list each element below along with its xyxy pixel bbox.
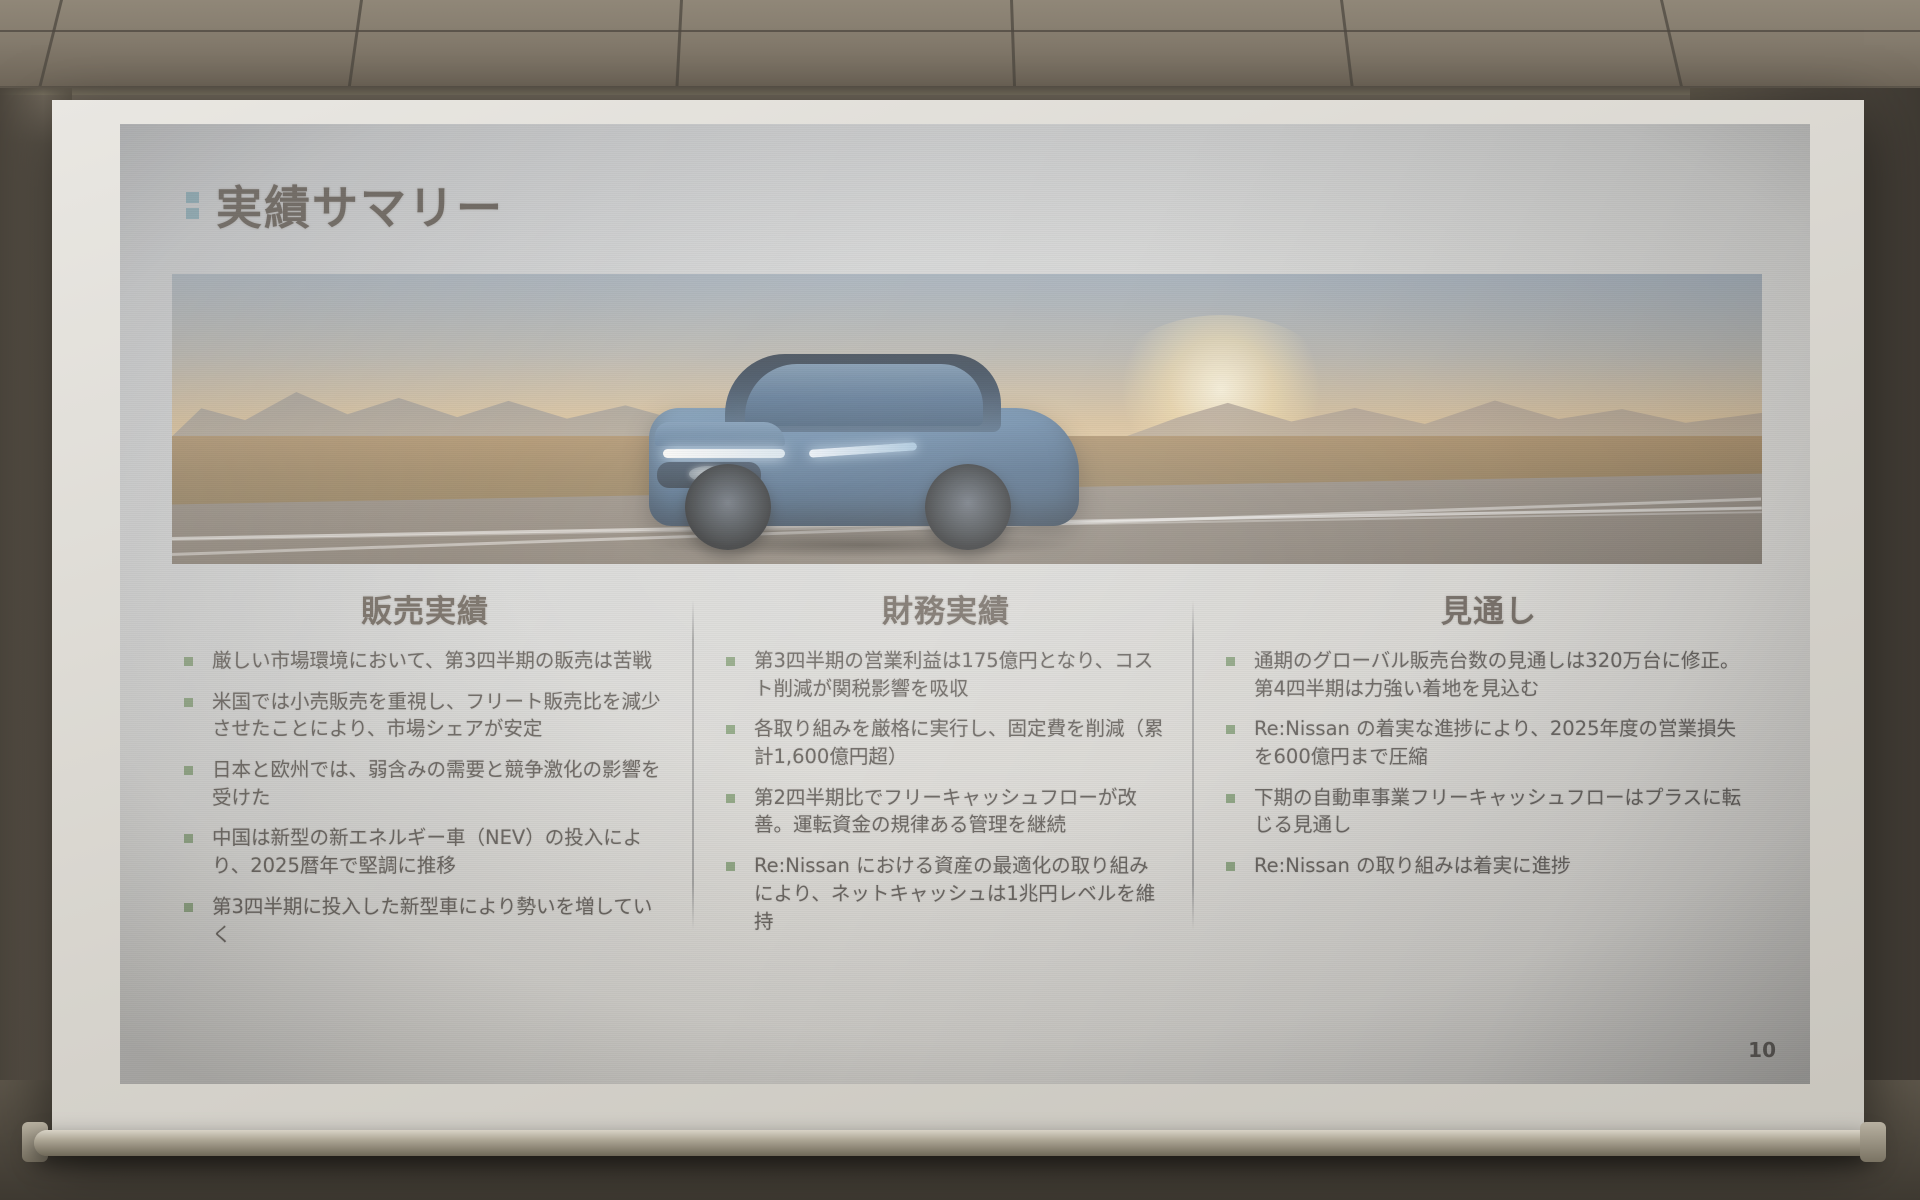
summary-columns: 販売実績 厳しい市場環境において、第3四半期の販売は苦戦 米国では小売販売を重視… — [172, 586, 1764, 1006]
list-item: 第3四半期に投入した新型車により勢いを増していく — [184, 893, 666, 948]
list-item-text: 第2四半期比でフリーキャッシュフローが改善。運転資金の規律ある管理を継続 — [754, 784, 1166, 839]
list-item-text: Re:Nissan の取り組みは着実に進捗 — [1254, 852, 1571, 880]
vehicle-illustration — [649, 335, 1079, 550]
bullet-list: 厳しい市場環境において、第3四半期の販売は苦戦 米国では小売販売を重視し、フリー… — [184, 647, 666, 948]
bullet-square-icon — [184, 893, 212, 948]
screen-roller-end-right — [1860, 1122, 1886, 1162]
bullet-square-icon — [726, 715, 754, 770]
bullet-square-icon — [184, 647, 212, 675]
list-item-text: Re:Nissan における資産の最適化の取り組みにより、ネットキャッシュは1兆… — [754, 852, 1166, 935]
list-item-text: 中国は新型の新エネルギー車（NEV）の投入により、2025暦年で堅調に推移 — [212, 824, 666, 879]
list-item: 各取り組みを厳格に実行し、固定費を削減（累計1,600億円超） — [726, 715, 1166, 770]
hero-image — [172, 274, 1762, 564]
bullet-list: 第3四半期の営業利益は175億円となり、コスト削減が関税影響を吸収 各取り組みを… — [726, 647, 1166, 935]
bullet-square-icon — [1226, 715, 1254, 770]
list-item: Re:Nissan の着実な進捗により、2025年度の営業損失を600億円まで圧… — [1226, 715, 1752, 770]
list-item-text: 通期のグローバル販売台数の見通しは320万台に修正。第4四半期は力強い着地を見込… — [1254, 647, 1752, 702]
screen-roller-bar — [34, 1130, 1874, 1156]
list-item: 厳しい市場環境において、第3四半期の販売は苦戦 — [184, 647, 666, 675]
list-item-text: 米国では小売販売を重視し、フリート販売比を減少させたことにより、市場シェアが安定 — [212, 688, 666, 743]
bullet-square-icon — [1226, 784, 1254, 839]
bullet-square-icon — [184, 688, 212, 743]
list-item: Re:Nissan の取り組みは着実に進捗 — [1226, 852, 1752, 880]
list-item: 下期の自動車事業フリーキャッシュフローはプラスに転じる見通し — [1226, 784, 1752, 839]
title-marker-icon — [186, 192, 199, 219]
list-item: 通期のグローバル販売台数の見通しは320万台に修正。第4四半期は力強い着地を見込… — [1226, 647, 1752, 702]
list-item-text: 各取り組みを厳格に実行し、固定費を削減（累計1,600億円超） — [754, 715, 1166, 770]
list-item: 中国は新型の新エネルギー車（NEV）の投入により、2025暦年で堅調に推移 — [184, 824, 666, 879]
list-item-text: 厳しい市場環境において、第3四半期の販売は苦戦 — [212, 647, 652, 675]
column-sales-results: 販売実績 厳しい市場環境において、第3四半期の販売は苦戦 米国では小売販売を重視… — [172, 586, 692, 1006]
ceiling-wall-seam — [0, 86, 1920, 95]
page-title: 実績サマリー — [216, 172, 504, 238]
ceiling-tiles — [0, 0, 1920, 92]
projection-screen: 実績サマリー — [52, 100, 1864, 1140]
column-heading: 財務実績 — [726, 586, 1166, 631]
bullet-square-icon — [1226, 647, 1254, 702]
list-item: 第2四半期比でフリーキャッシュフローが改善。運転資金の規律ある管理を継続 — [726, 784, 1166, 839]
page-number: 10 — [1748, 1038, 1776, 1062]
meeting-room-background: 実績サマリー — [0, 0, 1920, 1200]
list-item: Re:Nissan における資産の最適化の取り組みにより、ネットキャッシュは1兆… — [726, 852, 1166, 935]
column-divider — [1192, 600, 1194, 930]
bullet-square-icon — [184, 756, 212, 811]
column-outlook: 見通し 通期のグローバル販売台数の見通しは320万台に修正。第4四半期は力強い着… — [1192, 586, 1764, 1006]
list-item-text: 下期の自動車事業フリーキャッシュフローはプラスに転じる見通し — [1254, 784, 1752, 839]
bullet-square-icon — [184, 824, 212, 879]
column-heading: 販売実績 — [184, 586, 666, 631]
list-item: 米国では小売販売を重視し、フリート販売比を減少させたことにより、市場シェアが安定 — [184, 688, 666, 743]
column-financial-results: 財務実績 第3四半期の営業利益は175億円となり、コスト削減が関税影響を吸収 各… — [692, 586, 1192, 1006]
list-item: 第3四半期の営業利益は175億円となり、コスト削減が関税影響を吸収 — [726, 647, 1166, 702]
bullet-square-icon — [726, 852, 754, 935]
bullet-list: 通期のグローバル販売台数の見通しは320万台に修正。第4四半期は力強い着地を見込… — [1226, 647, 1752, 880]
column-divider — [692, 600, 694, 930]
bullet-square-icon — [726, 784, 754, 839]
list-item-text: 第3四半期に投入した新型車により勢いを増していく — [212, 893, 666, 948]
bullet-square-icon — [1226, 852, 1254, 880]
bullet-square-icon — [726, 647, 754, 702]
slide-title-row: 実績サマリー — [186, 172, 504, 238]
list-item: 日本と欧州では、弱含みの需要と競争激化の影響を受けた — [184, 756, 666, 811]
column-heading: 見通し — [1226, 586, 1752, 631]
list-item-text: 日本と欧州では、弱含みの需要と競争激化の影響を受けた — [212, 756, 666, 811]
presentation-slide: 実績サマリー — [120, 124, 1810, 1084]
list-item-text: Re:Nissan の着実な進捗により、2025年度の営業損失を600億円まで圧… — [1254, 715, 1752, 770]
list-item-text: 第3四半期の営業利益は175億円となり、コスト削減が関税影響を吸収 — [754, 647, 1166, 702]
